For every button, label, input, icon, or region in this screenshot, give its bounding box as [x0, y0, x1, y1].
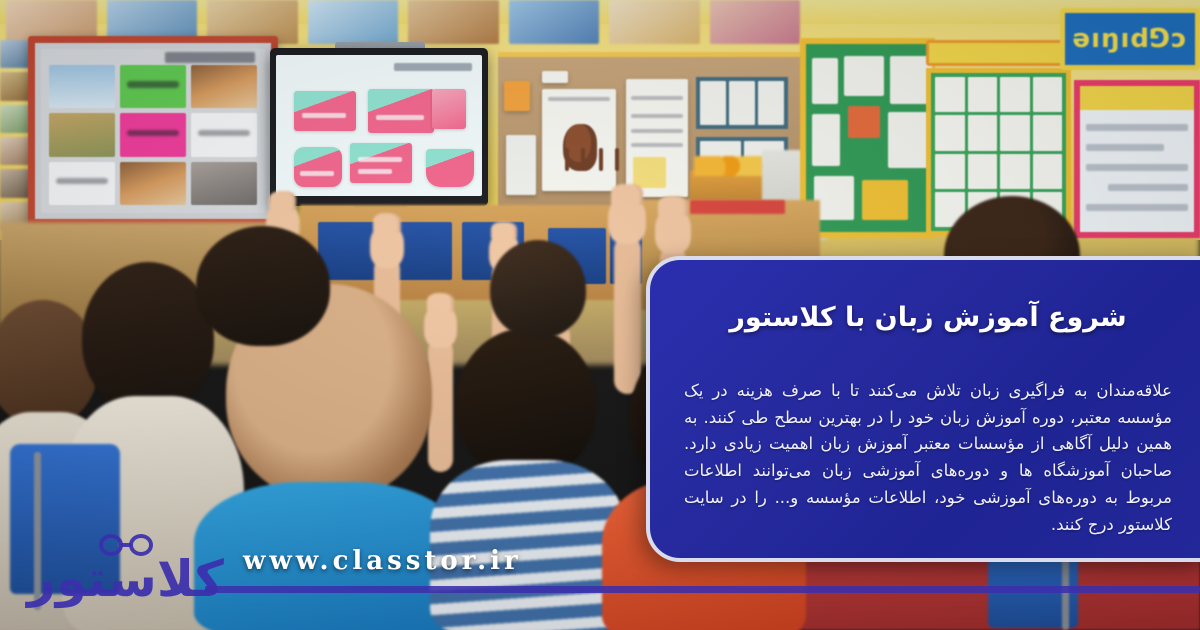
smartboard [270, 48, 488, 206]
smartboard-screen [276, 55, 482, 196]
chair-leg-right [1062, 556, 1069, 630]
info-card: شروع آموزش زبان با کلاستور علاقه‌مندان ب… [646, 256, 1200, 562]
card-body-text: علاقه‌مندان به فراگیری زبان تلاش می‌کنند… [684, 378, 1172, 538]
chair-leg-left [34, 452, 41, 610]
child-top-dark [192, 226, 332, 376]
wall-photo-column [0, 40, 30, 230]
red-tray [690, 200, 785, 214]
blue-banner-poster [1060, 8, 1200, 70]
yellow-title-band [926, 40, 1071, 66]
child-back-small [490, 240, 590, 360]
card-title: شروع آموزش زبان با کلاستور [694, 300, 1162, 336]
green-board [800, 38, 935, 238]
pink-board-poster [1074, 80, 1200, 238]
chair-left [10, 444, 120, 594]
child-striped [430, 328, 620, 630]
banner-canvas: شروع آموزش زبان با کلاستور علاقه‌مندان ب… [0, 0, 1200, 630]
bulletin-board-left [28, 36, 278, 226]
